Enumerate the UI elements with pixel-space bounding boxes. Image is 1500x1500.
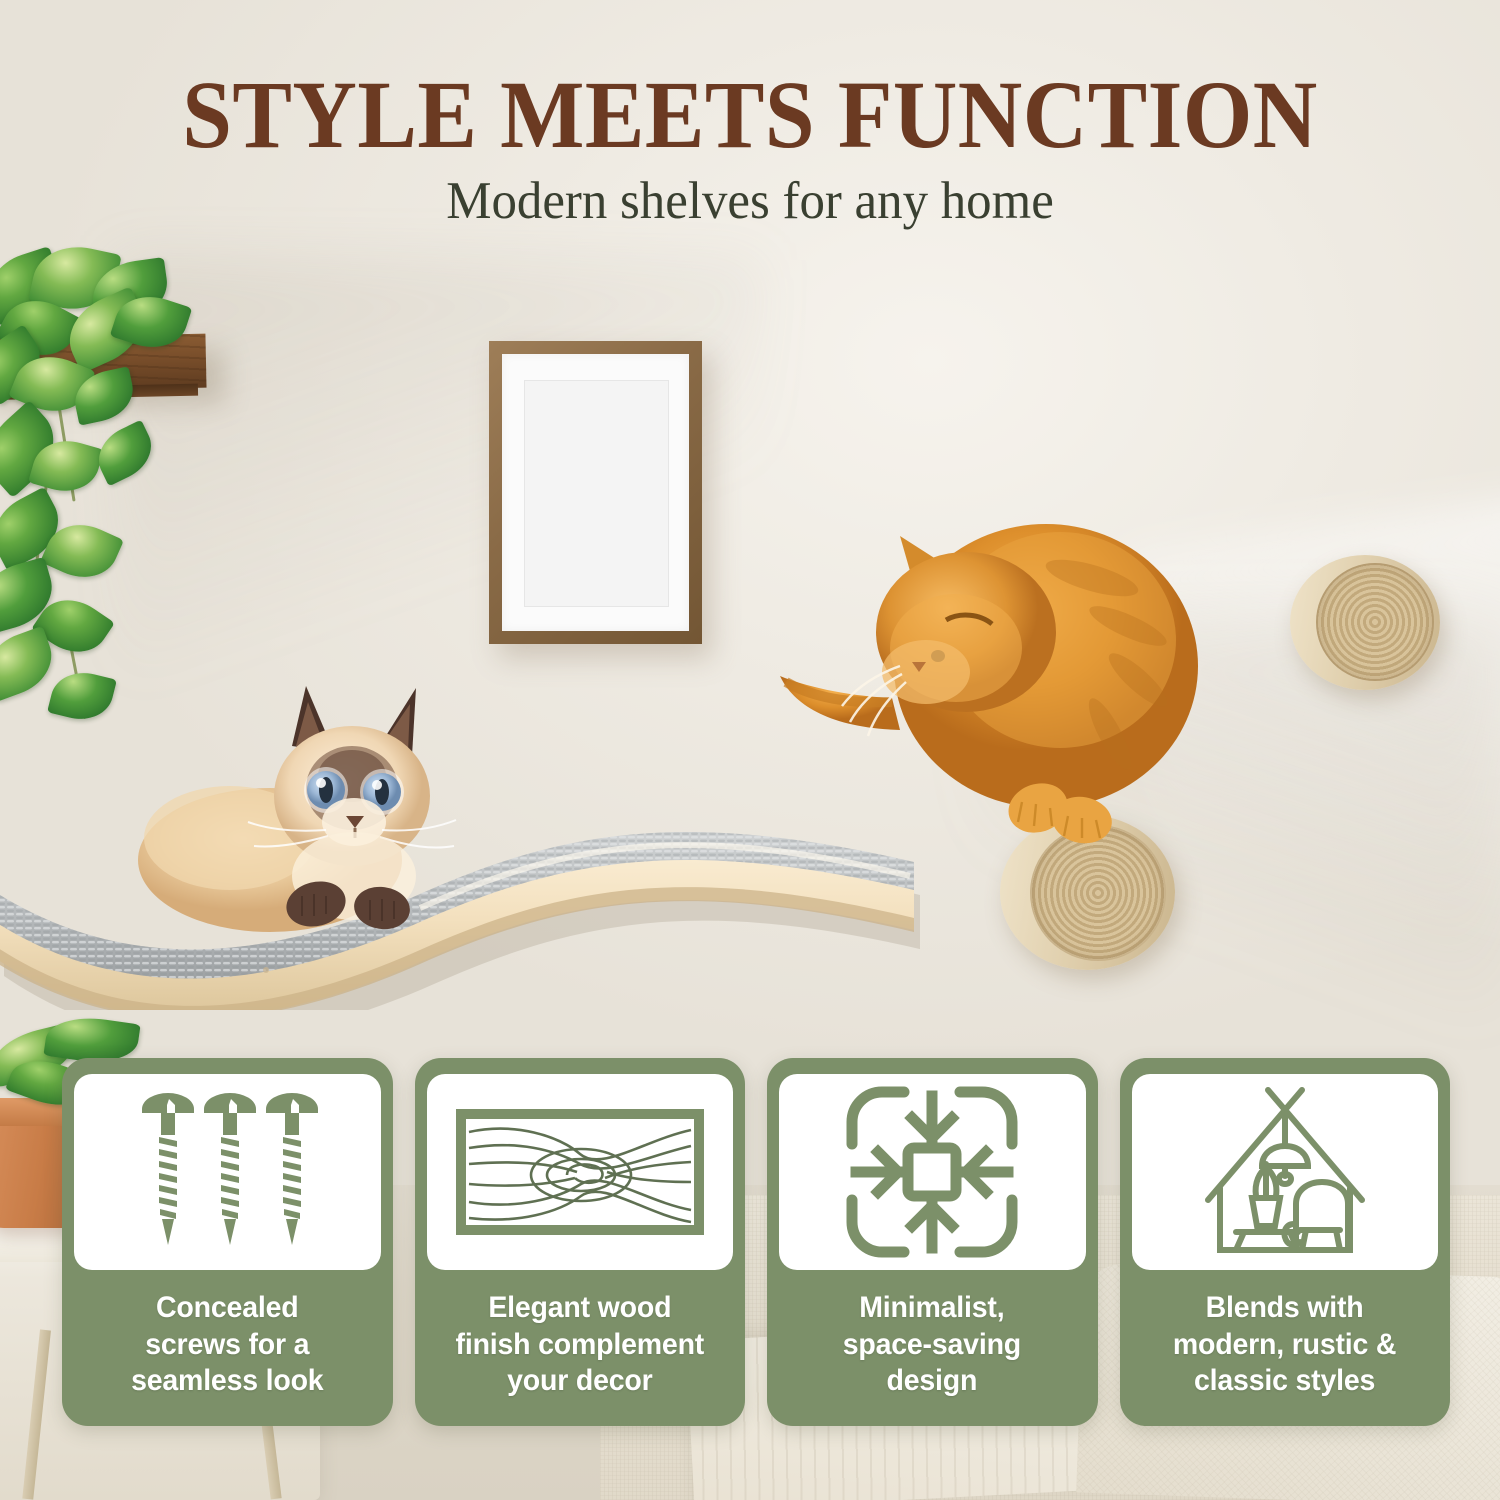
three-screws-icon (74, 1074, 381, 1270)
siamese-cat (120, 680, 540, 940)
space-saving-arrows-icon (779, 1074, 1086, 1270)
feature-card-wood-finish[interactable]: Elegant wood finish complement your deco… (415, 1058, 746, 1426)
wood-grain-plank-icon (427, 1074, 734, 1270)
sisal-wall-step-upper (1290, 555, 1440, 690)
page-title: STYLE MEETS FUNCTION (53, 0, 1448, 164)
feature-card-blends-styles[interactable]: Blends with modern, rustic & classic sty… (1120, 1058, 1451, 1426)
picture-frame (489, 341, 702, 644)
feature-card-label: Elegant wood finish complement your deco… (455, 1290, 704, 1400)
ginger-cat (760, 490, 1300, 850)
feature-card-concealed-screws[interactable]: Concealed screws for a seamless look (62, 1058, 393, 1426)
product-feature-graphic: STYLE MEETS FUNCTION Modern shelves for … (0, 0, 1500, 1500)
page-subtitle: Modern shelves for any home (30, 172, 1470, 230)
feature-card-label: Blends with modern, rustic & classic sty… (1173, 1290, 1396, 1400)
feature-card-label: Concealed screws for a seamless look (131, 1290, 323, 1400)
feature-card-space-saving[interactable]: Minimalist, space-saving design (767, 1058, 1098, 1426)
header: STYLE MEETS FUNCTION Modern shelves for … (0, 0, 1500, 230)
picture-frame-mat (502, 354, 689, 631)
house-interior-icon (1132, 1074, 1439, 1270)
feature-card-label: Minimalist, space-saving design (843, 1290, 1021, 1400)
picture-frame-art (524, 380, 669, 607)
feature-cards: Concealed screws for a seamless look (62, 1058, 1450, 1426)
